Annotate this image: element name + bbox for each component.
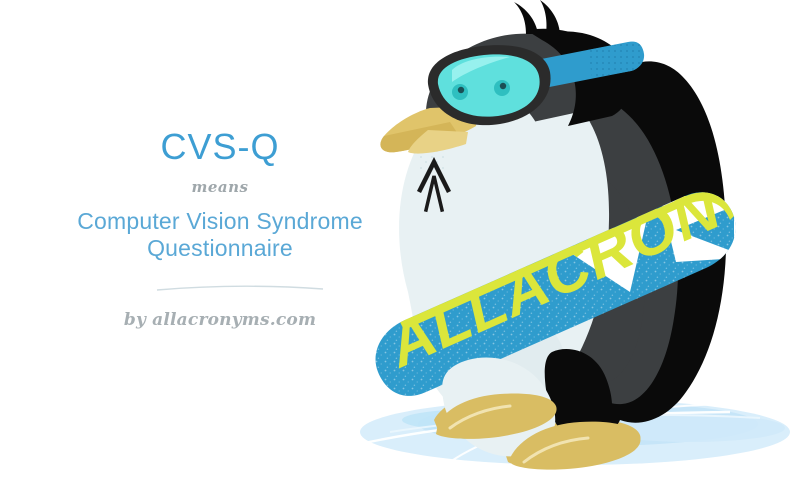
penguin-snowboarder-illustration: ALLACRONYMS (330, 0, 801, 477)
divider (155, 284, 325, 292)
acronym-card: CVS-Q means Computer Vision Syndrome Que… (0, 0, 801, 477)
